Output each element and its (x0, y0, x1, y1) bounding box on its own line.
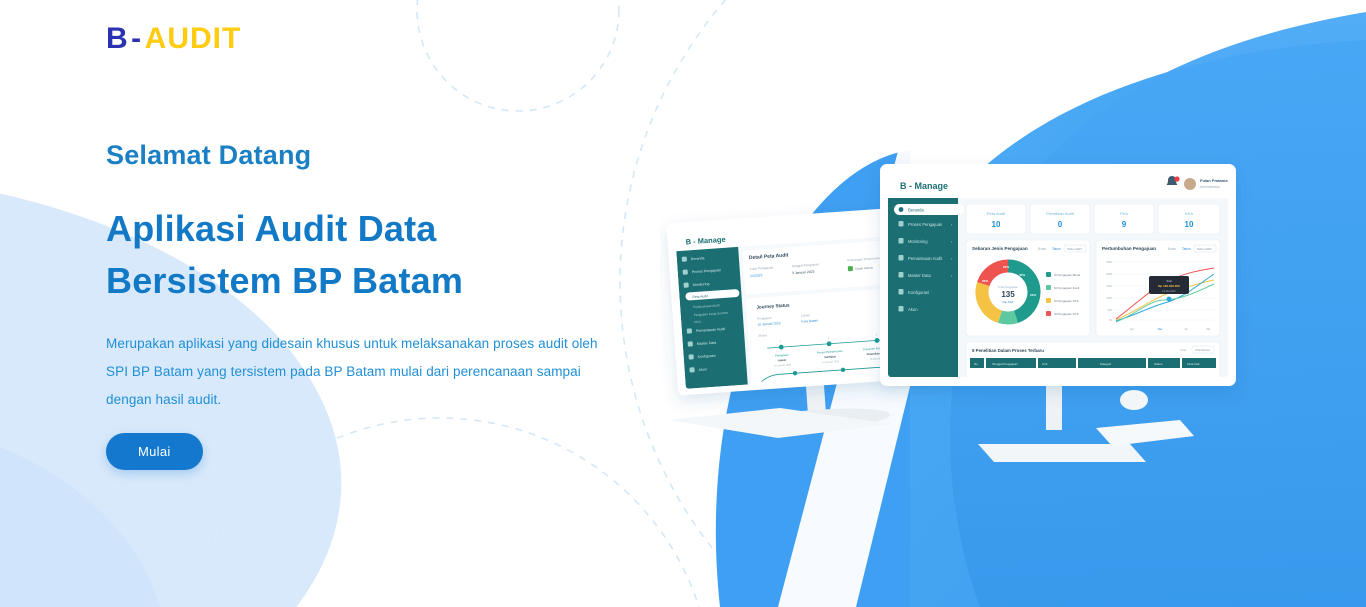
hero-content: B-AUDIT Selamat Datang Aplikasi Audit Da… (0, 0, 680, 607)
svg-text:10: 10 (992, 220, 1001, 229)
svg-text:Pertumbuhan Pengajuan: Pertumbuhan Pengajuan (1102, 246, 1156, 251)
svg-text:Lihat: Lihat (1180, 348, 1186, 352)
headline-line-2: Bersistem BP Batam (106, 260, 463, 301)
front-monitor-base (978, 444, 1146, 462)
hero-description: Merupakan aplikasi yang didesain khusus … (106, 330, 606, 414)
svg-text:1000: 1000 (1106, 296, 1112, 300)
svg-text:Fulan Pratama: Fulan Pratama (1200, 178, 1228, 183)
svg-text:9: 9 (1122, 220, 1127, 229)
svg-text:Okt: Okt (1206, 327, 1211, 331)
svg-text:Apr: Apr (1130, 327, 1134, 331)
svg-text:5 Penelitian Dalam Proses Terb: 5 Penelitian Dalam Proses Terbaru (972, 348, 1044, 353)
svg-text:Penelitian Audit: Penelitian Audit (1046, 211, 1074, 216)
svg-text:Beranda: Beranda (908, 208, 925, 213)
svg-text:Total: Total (1166, 279, 1172, 283)
svg-text:KKA: KKA (1185, 211, 1193, 216)
donut-chart-panel: Sebaran Jenis Pengajuan Bulan Tahun Tahu… (966, 240, 1090, 336)
svg-text:1500: 1500 (1106, 284, 1112, 288)
svg-text:Jul: Jul (1184, 327, 1188, 331)
svg-text:Bulan: Bulan (1038, 247, 1046, 251)
svg-text:Total Pengajuan: Total Pengajuan (998, 285, 1019, 289)
svg-text:0: 0 (1058, 220, 1063, 229)
brand-logo[interactable]: B-AUDIT (106, 22, 241, 56)
svg-text:Sebaran Jenis Pengajuan: Sebaran Jenis Pengajuan (972, 246, 1028, 251)
svg-text:PKA: PKA (1120, 211, 1128, 216)
svg-text:Tahun: Tahun (1182, 247, 1191, 251)
svg-text:2500: 2500 (1106, 260, 1112, 264)
hero-illustration: B - Manage Beranda Proses Pengajuan Moni… (660, 0, 1366, 607)
svg-text:500: 500 (1108, 308, 1113, 312)
svg-text:Tahun 2023: Tahun 2023 (1067, 247, 1082, 251)
svg-text:25%: 25% (1003, 265, 1009, 269)
svg-text:Unit: Unit (1042, 362, 1048, 366)
logo-word-audit: AUDIT (145, 22, 242, 55)
svg-text:Kategori: Kategori (1100, 362, 1112, 366)
svg-text:Sl Pengajuan Besar: Sl Pengajuan Besar (1054, 273, 1081, 277)
svg-text:Mei 2023: Mei 2023 (1003, 300, 1014, 304)
svg-text:Tahun: Tahun (1052, 247, 1061, 251)
logo-dash: - (131, 22, 142, 55)
svg-text:Rp 102.000.000: Rp 102.000.000 (1158, 284, 1180, 288)
svg-text:No: No (974, 362, 978, 366)
svg-text:10: 10 (1185, 220, 1194, 229)
front-mouse (1120, 390, 1148, 410)
svg-text:Monitoring: Monitoring (908, 239, 928, 244)
svg-text:Sl Pengajuan Kecil: Sl Pengajuan Kecil (1054, 286, 1080, 290)
welcome-text: Selamat Datang (106, 140, 311, 171)
svg-text:135: 135 (1001, 290, 1015, 299)
start-button[interactable]: Mulai (106, 433, 203, 470)
svg-text:Tanggal Pengajuan: Tanggal Pengajuan (992, 362, 1018, 366)
user-avatar (1184, 178, 1196, 190)
svg-text:Admin: Admin (778, 358, 787, 363)
front-monitor-neck (1046, 384, 1062, 430)
svg-text:Verifikasi: Verifikasi (824, 354, 836, 359)
svg-text:01 Mei 2023: 01 Mei 2023 (1162, 290, 1176, 293)
svg-text:Sl Pengajuan KKS: Sl Pengajuan KKS (1054, 312, 1079, 316)
logo-letter-b: B (106, 22, 128, 55)
svg-text:Sl Pengajuan PKS: Sl Pengajuan PKS (1054, 299, 1079, 303)
svg-text:Administrator: Administrator (1200, 185, 1221, 189)
svg-text:Konfigurasi: Konfigurasi (908, 290, 929, 295)
svg-text:Status: Status (758, 333, 767, 338)
svg-text:20%: 20% (982, 279, 988, 283)
svg-text:Pemantauan Audit: Pemantauan Audit (908, 256, 943, 261)
front-monitor-screen: B - Manage Fulan Pratama Administrator B… (888, 172, 1228, 380)
svg-text:Akun: Akun (908, 307, 918, 312)
svg-text:45%: 45% (1019, 273, 1025, 277)
svg-text:Akun: Akun (698, 367, 706, 372)
svg-text:Lihat Semua: Lihat Semua (1195, 348, 1210, 352)
svg-text:Tahun 2023: Tahun 2023 (1197, 247, 1212, 251)
svg-text:Proses Pengajuan: Proses Pengajuan (908, 222, 943, 227)
page-title: Aplikasi Audit Data Bersistem BP Batam (106, 203, 576, 307)
svg-text:Bulan: Bulan (1168, 247, 1176, 251)
line-chart-panel: Pertumbuhan Pengajuan Bulan Tahun Tahun … (1096, 240, 1220, 336)
svg-text:2000: 2000 (1106, 272, 1112, 276)
svg-text:Peta Audit: Peta Audit (987, 211, 1006, 216)
svg-text:Mar: Mar (1158, 327, 1163, 331)
front-monitor-app-title: B - Manage (900, 181, 948, 191)
svg-text:Lokasi: Lokasi (801, 313, 810, 318)
svg-text:10%: 10% (1030, 293, 1036, 297)
svg-text:KKA: KKA (694, 320, 702, 324)
svg-text:Master Data: Master Data (908, 273, 931, 278)
recent-table: 5 Penelitian Dalam Proses Terbaru Lihat … (966, 342, 1220, 380)
svg-text:Lihat Dok: Lihat Dok (1187, 362, 1200, 366)
headline-line-1: Aplikasi Audit Data (106, 208, 437, 249)
svg-text:Status: Status (1154, 362, 1163, 366)
